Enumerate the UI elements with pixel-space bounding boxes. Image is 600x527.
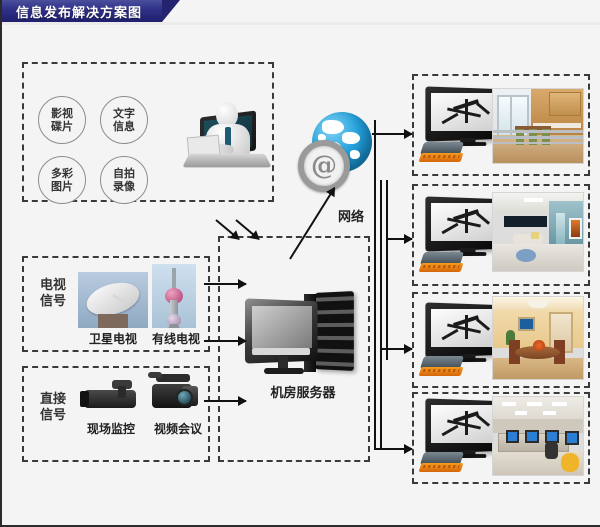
source-circle-text-info[interactable]: 文字 信息	[100, 96, 148, 144]
source-label-line1: 多彩	[51, 167, 73, 180]
endpoint-photo-2	[492, 192, 584, 272]
at-symbol-icon: @	[298, 140, 350, 192]
source-label-line2: 信息	[113, 120, 135, 133]
source-circle-self-recorded-video[interactable]: 自拍 录像	[100, 156, 148, 204]
page-title: 信息发布解决方案图	[2, 2, 142, 21]
distribution-bus-line-1	[374, 120, 376, 450]
camcorder-icon	[146, 372, 206, 418]
distribution-bus-line-2	[380, 180, 382, 450]
source-circle-video-disc[interactable]: 影视 碟片	[38, 96, 86, 144]
title-underline	[2, 22, 600, 25]
arrow-feed-endpoint-4	[374, 448, 412, 450]
set-top-box-2	[420, 252, 464, 274]
arrow-feed-endpoint-3	[380, 348, 412, 350]
source-label-line1: 影视	[51, 107, 73, 120]
security-camera-icon	[78, 378, 142, 418]
arrow-direct-signal-to-server	[204, 400, 246, 402]
arrow-tv-signal-to-server-bottom	[204, 340, 246, 342]
source-label-line2: 图片	[51, 180, 73, 193]
arrow-feed-endpoint-2	[386, 238, 412, 240]
source-circle-colorful-pictures[interactable]: 多彩 图片	[38, 156, 86, 204]
operator-with-laptop-icon	[178, 100, 278, 178]
set-top-box-3	[420, 356, 464, 378]
server-caption: 机房服务器	[248, 382, 358, 401]
satellite-dish-icon	[78, 272, 148, 328]
source-label-line1: 自拍	[113, 167, 135, 180]
distribution-bus-line-3	[386, 180, 388, 360]
source-label-line2: 录像	[113, 180, 135, 193]
tv-signal-label: 电视 信号	[28, 278, 78, 310]
video-conference-caption: 视频会议	[138, 420, 218, 437]
arrow-tv-signal-to-server-top	[204, 283, 246, 285]
endpoint-photo-4	[492, 396, 584, 476]
endpoint-photo-1	[492, 88, 584, 164]
laptop-keyboard-icon	[182, 154, 272, 168]
solution-diagram-page: 信息发布解决方案图 影视 碟片 文字 信息 多彩 图片 自拍 录像 电视 信号	[0, 0, 600, 527]
endpoint-photo-3	[492, 296, 584, 380]
server-icon	[242, 292, 362, 376]
tv-tower-icon	[152, 264, 196, 328]
set-top-box-4	[420, 452, 464, 474]
source-label-line1: 文字	[113, 107, 135, 120]
title-tab-skew	[162, 0, 180, 22]
arrow-feed-endpoint-1	[372, 133, 412, 135]
network-caption: 网络	[326, 206, 376, 225]
set-top-box-1	[420, 142, 464, 164]
source-label-line2: 碟片	[51, 120, 73, 133]
cable-tv-caption: 有线电视	[136, 330, 216, 347]
title-bar: 信息发布解决方案图	[2, 0, 162, 22]
